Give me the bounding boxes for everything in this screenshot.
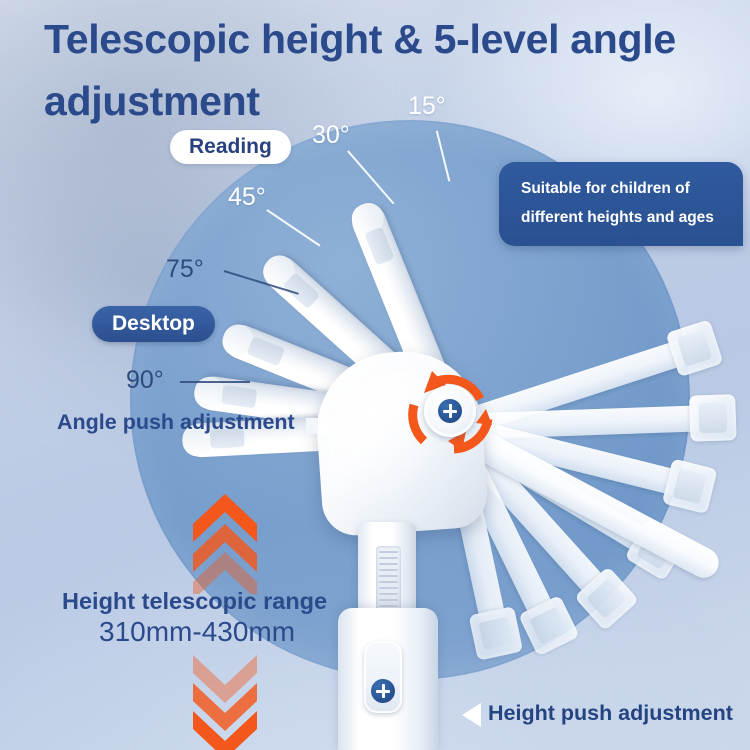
chevrons-up-icon [191,494,259,599]
angle-label-15deg: 15° [408,92,446,121]
height-range-value: 310mm-430mm [99,616,295,648]
callout-box: Suitable for children of different heigh… [499,162,743,246]
angle-label-30deg: 30° [312,121,350,150]
callout-line-1: Suitable for children of [521,175,737,204]
leader-line-90deg [180,381,250,383]
callout-line-2: different heights and ages [521,204,737,233]
product-infographic: Telescopic height & 5-level angle adjust… [0,0,750,750]
chevrons-down-icon [191,655,259,750]
badge-reading: Reading [170,130,291,164]
height-range-title: Height telescopic range [62,588,327,615]
arrow-left-icon [462,703,481,727]
angle-label-90deg: 90° [126,366,164,395]
angle-label-45deg: 45° [228,183,266,212]
angle-label-75deg: 75° [166,255,204,284]
angle-push-label: Angle push adjustment [57,410,295,435]
page-title: Telescopic height & 5-level angle adjust… [44,8,734,133]
arrow-right-icon [318,414,335,438]
badge-desktop: Desktop [92,306,215,342]
height-push-label: Height push adjustment [488,701,733,726]
